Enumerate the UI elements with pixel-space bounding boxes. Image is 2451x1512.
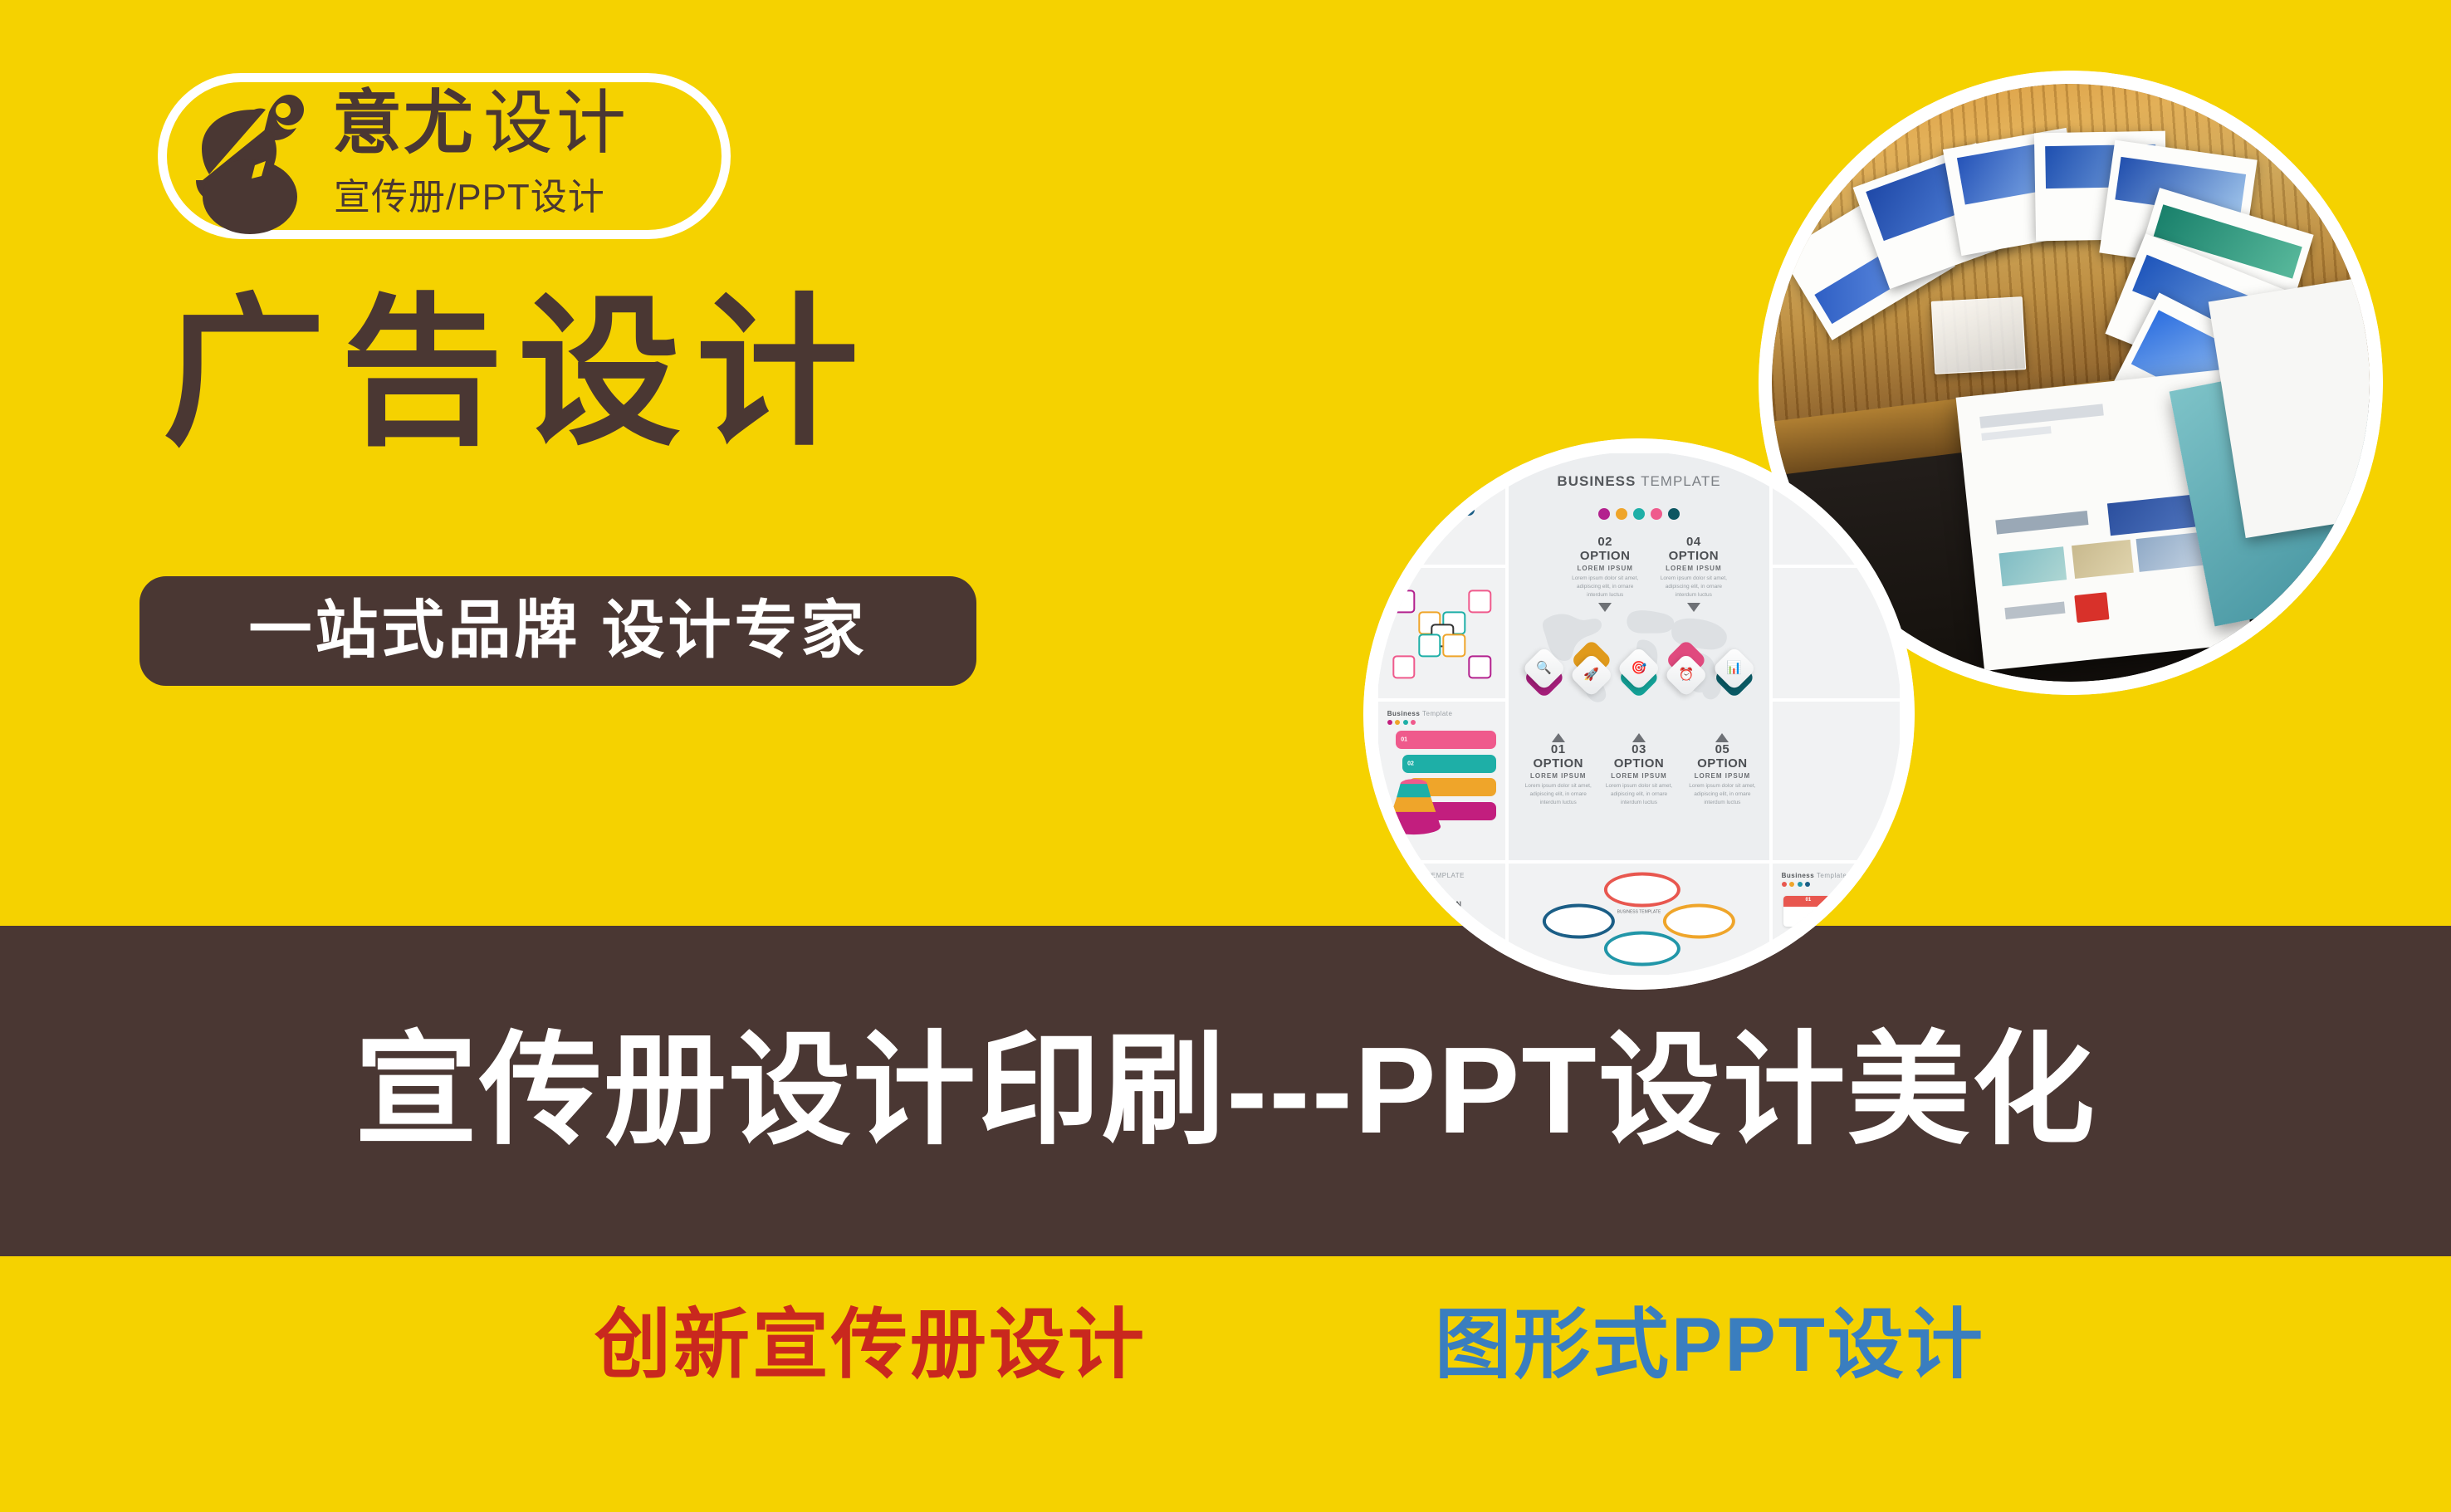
dot-2 [1616,508,1627,520]
logo-brand-thin: 设计 [483,88,629,158]
cycle-center-label: BUSINESS TEMPLATE [1592,909,1685,926]
ppt-option-01-title: 01 OPTION [1524,742,1592,771]
cone-heading-thin: Template [1422,710,1452,717]
ppt-diamond-02: 🚀 [1572,651,1611,690]
dot-1 [1598,508,1610,520]
ppt-template-circle-image: BUSINESS TEMPLATE [1363,438,1915,990]
step-01-tab: 01 [1783,896,1832,907]
ppt-option-02: 02 OPTION LOREM IPSUM Lorem ipsum dolor … [1571,535,1639,612]
ppt-diamond-01: 🔍 [1524,651,1563,690]
thumbnail-map-option: BUSINESS TEMPLATE 04 OPTION [1378,864,1505,975]
thumbnail-ribbon-steps [1378,453,1505,565]
red-seal-stamp [2073,592,2108,623]
ppt-main-slide: BUSINESS TEMPLATE [1509,453,1769,860]
thumbnail-right-low [1773,702,1900,860]
thumbnail-circle-cycle: BUSINESS TEMPLATE [1509,864,1769,975]
ppt-option-05: 05 OPTION LOREM IPSUM Lorem ipsum dolor … [1689,730,1757,807]
map-option-label: 04 OPTION [1387,900,1497,908]
dark-banner-label: 宣传册设计印刷---PPT设计美化 [0,926,2451,1256]
ppt-option-01-sub: LOREM IPSUM [1524,772,1592,780]
cone-graphic [1383,758,1444,850]
ppt-main-title: BUSINESS TEMPLATE [1509,473,1769,490]
ppt-option-03-arrow-icon [1632,733,1646,742]
thumbnail-right-top [1773,453,1900,565]
target-icon: 🎯 [1632,660,1647,675]
ppt-option-05-sub: LOREM IPSUM [1689,772,1757,780]
ppt-option-02-sub: LOREM IPSUM [1571,565,1639,572]
ppt-option-02-body: Lorem ipsum dolor sit amet, adipiscing e… [1571,575,1639,599]
ppt-option-03-body: Lorem ipsum dolor sit amet, adipiscing e… [1605,782,1673,807]
ppt-diamond-04: ⏰ [1667,651,1706,690]
bottom-service-brochure: 创新宣传册设计 [594,1307,1147,1383]
map-heading-bold: BUSINESS [1387,872,1425,879]
ppt-option-03: 03 OPTION LOREM IPSUM Lorem ipsum dolor … [1605,730,1673,807]
steps-dot-row [1782,882,1891,887]
ppt-option-05-arrow-icon [1715,733,1729,742]
map-option-heading: BUSINESS TEMPLATE [1387,872,1497,879]
ppt-option-03-sub: LOREM IPSUM [1605,772,1673,780]
page-title: 广告设计 [163,292,873,455]
dot-3 [1633,508,1645,520]
steps-heading-thin: Template [1817,872,1847,879]
magnifier-icon: 🔍 [1536,660,1552,675]
cone-heading-bold: Business [1387,710,1421,717]
thumbnail-cone-heading: Business Template [1387,710,1497,717]
slogan-badge: 一站式品牌 设计专家 [139,576,976,686]
ppt-option-04-title: 04 OPTION [1660,535,1728,563]
steps-heading: Business Template [1782,872,1891,879]
ppt-main-title-bold: BUSINESS [1557,473,1636,489]
cone-row-01: 01 [1401,736,1407,742]
thumbnail-four-step-cards: Business Template 01 02 [1773,864,1900,975]
dark-banner-bar: 宣传册设计印刷---PPT设计美化 [0,926,2451,1256]
steps-heading-bold: Business [1782,872,1815,879]
step-02-tab: 02 [1839,896,1888,907]
cone-dot-row [1387,720,1497,725]
ppt-option-05-body: Lorem ipsum dolor sit amet, adipiscing e… [1689,782,1757,807]
bottom-service-ppt: 图形式PPT设计 [1435,1307,1985,1383]
rocket-icon: 🚀 [1583,667,1599,682]
thumbnail-cone-layers: Business Template 01 02 03 [1378,702,1505,860]
ppt-option-04-body: Lorem ipsum dolor sit amet, adipiscing e… [1660,575,1728,599]
thumbnail-x-cross-nodes [1378,568,1505,697]
ppt-main-title-thin: TEMPLATE [1641,473,1720,489]
ppt-option-04: 04 OPTION LOREM IPSUM Lorem ipsum dolor … [1660,535,1728,612]
map-dot-row [1387,882,1497,887]
bottom-service-row: 创新宣传册设计 图形式PPT设计 [0,1279,2451,1412]
dot-5 [1668,508,1680,520]
ppt-circle-clip: BUSINESS TEMPLATE [1377,452,1901,976]
ppt-option-01-arrow-icon [1552,733,1565,742]
clock-icon: ⏰ [1679,667,1695,682]
step-03-tab: 03 [1783,932,1832,943]
ppt-option-01: 01 OPTION LOREM IPSUM Lorem ipsum dolor … [1524,730,1592,807]
ppt-option-04-arrow-icon [1687,603,1700,612]
banner-canvas: 意尤 设计 宣传册/PPT设计 广告设计 一站式品牌 设计专家 [0,0,2451,1512]
thumbnail-right-mid [1773,568,1900,697]
ppt-option-03-title: 03 OPTION [1605,742,1673,771]
presentation-icon: 📊 [1726,660,1742,675]
yiyou-bird-leaf-mark-icon [173,81,322,236]
ppt-option-04-sub: LOREM IPSUM [1660,565,1728,572]
ppt-option-02-arrow-icon [1598,603,1612,612]
logo-tagline: 宣传册/PPT设计 [334,179,605,216]
ppt-diamond-05: 📊 [1715,651,1754,690]
dot-4 [1651,508,1662,520]
ppt-option-01-body: Lorem ipsum dolor sit amet, adipiscing e… [1524,782,1592,807]
ppt-main-dot-row [1509,508,1769,520]
card-holder [1931,296,2026,374]
ppt-diamond-row: 🔍 🚀 🎯 ⏰ 📊 [1524,618,1754,723]
logo-title: 意尤 设计 [332,80,629,166]
logo-brand-bold: 意尤 [332,88,475,158]
ppt-option-02-title: 02 OPTION [1571,535,1639,563]
ppt-diamond-03: 🎯 [1620,651,1659,690]
ppt-option-05-title: 05 OPTION [1689,742,1757,771]
ppt-slide-collage: BUSINESS TEMPLATE [1377,452,1901,976]
slogan-badge-label: 一站式品牌 设计专家 [248,599,867,663]
map-heading-thin: TEMPLATE [1426,872,1465,879]
step-04-tab: 04 [1839,932,1888,943]
